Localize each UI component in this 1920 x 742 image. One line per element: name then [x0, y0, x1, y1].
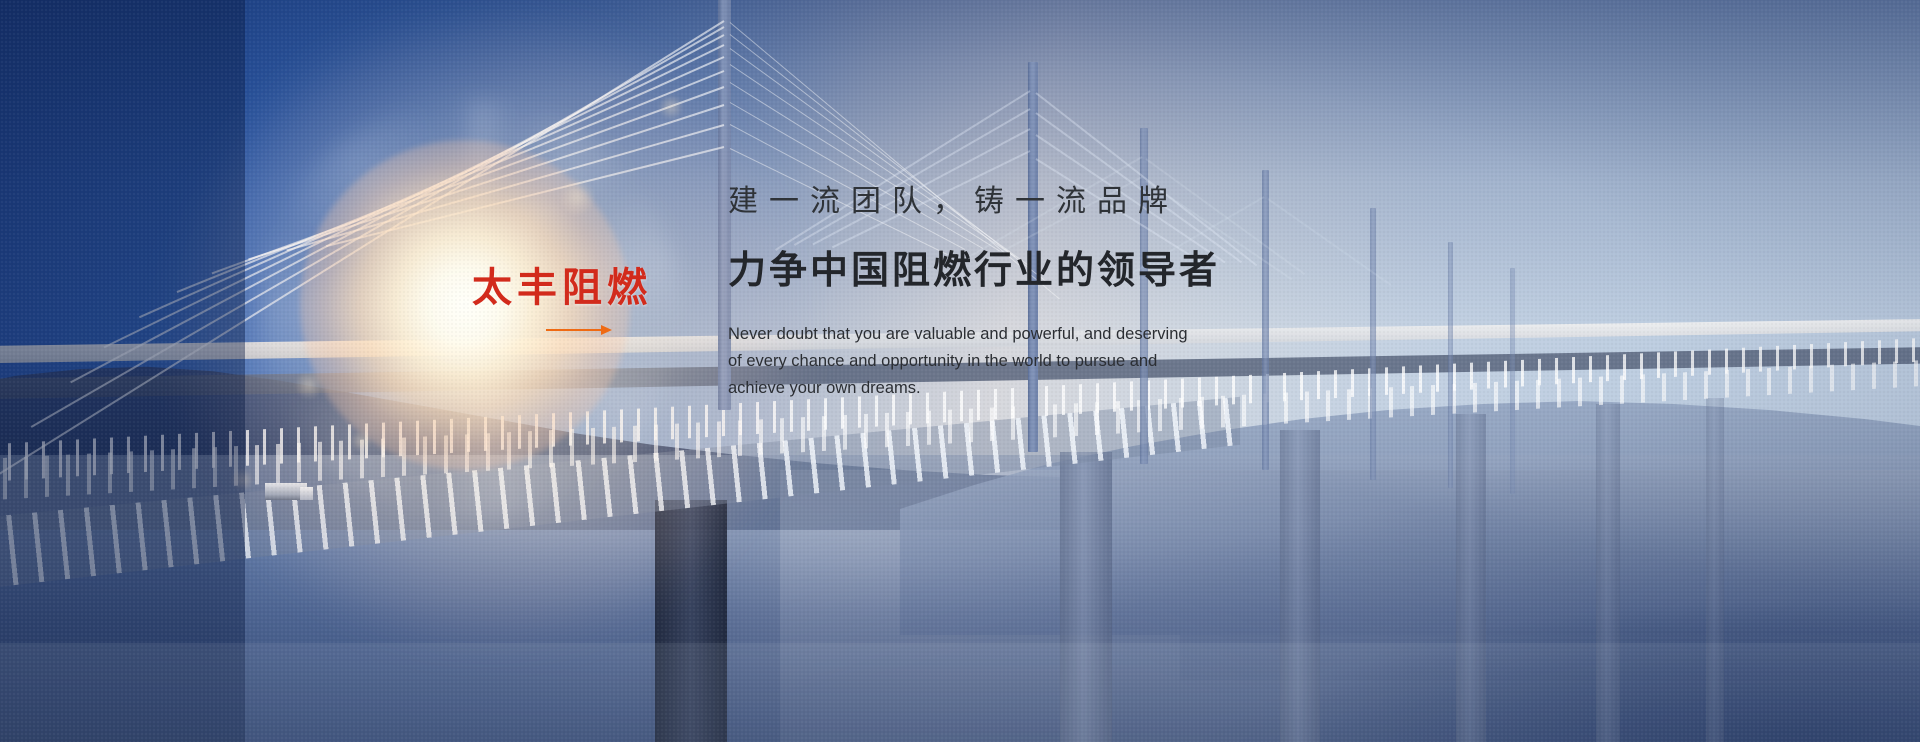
bottom-light-band [0, 643, 1920, 742]
hero-copy-block: 建一流团队，铸一流品牌 力争中国阻燃行业的领导者 Never doubt tha… [728, 182, 1220, 402]
bridge-pylon-6 [1448, 242, 1453, 488]
brand-logo-text: 太丰阻燃 [462, 268, 662, 308]
arrow-right-icon [546, 325, 612, 335]
bridge-pylon-4 [1262, 170, 1269, 470]
hero-subtitle: 建一流团队，铸一流品牌 [728, 182, 1220, 221]
bridge-pylon-7 [1510, 268, 1515, 494]
hero-paragraph-line-3: achieve your own dreams. [728, 375, 1220, 402]
lens-flare-4 [660, 96, 682, 118]
lens-flare-1 [296, 372, 322, 398]
hero-paragraph-line-1: Never doubt that you are valuable and po… [728, 321, 1220, 348]
arrow-head [601, 325, 612, 335]
brand-logo[interactable]: 太丰阻燃 [462, 268, 662, 335]
lens-flare-3 [560, 180, 594, 214]
bridge-pylon-5 [1370, 208, 1376, 480]
lens-flare-2 [352, 432, 370, 450]
hero-paragraph-line-2: of every chance and opportunity in the w… [728, 348, 1220, 375]
hero-banner: 太丰阻燃 建一流团队，铸一流品牌 力争中国阻燃行业的领导者 Never doub… [0, 0, 1920, 742]
hero-headline: 力争中国阻燃行业的领导者 [728, 247, 1220, 295]
hero-paragraph: Never doubt that you are valuable and po… [728, 321, 1220, 402]
left-dark-overlay-panel [0, 0, 245, 742]
arrow-shaft [546, 329, 606, 331]
